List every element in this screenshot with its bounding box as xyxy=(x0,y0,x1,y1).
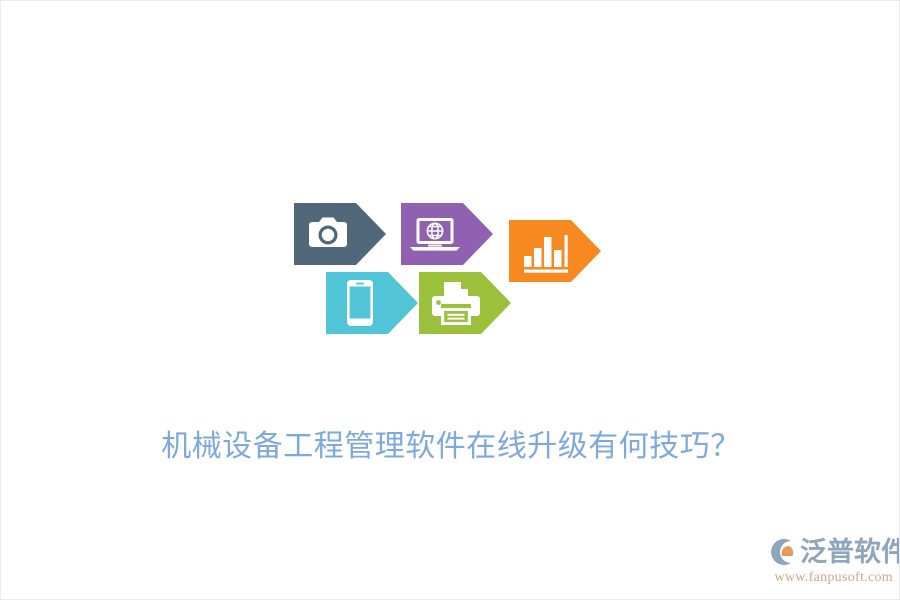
fanpu-logo-icon xyxy=(769,537,799,567)
chevron-printer[interactable] xyxy=(419,272,511,334)
chevron-mobile[interactable] xyxy=(326,272,418,334)
chevron-laptop[interactable] xyxy=(401,203,493,265)
page-title: 机械设备工程管理软件在线升级有何技巧？ xyxy=(1,426,900,468)
page-canvas: 机械设备工程管理软件在线升级有何技巧？ 泛普软件 www.fanpusoft.c… xyxy=(0,0,900,600)
smartphone-icon xyxy=(347,280,373,326)
watermark-brand-text: 泛普软件 xyxy=(800,537,900,567)
watermark-url: www.fanpusoft.com xyxy=(769,570,893,586)
watermark-logo: 泛普软件 www.fanpusoft.com xyxy=(769,535,893,587)
chevron-camera[interactable] xyxy=(294,203,386,265)
chevron-icon-cluster xyxy=(294,203,604,335)
chevron-bar-chart[interactable] xyxy=(509,220,601,282)
watermark-brand-row: 泛普软件 xyxy=(769,535,893,569)
